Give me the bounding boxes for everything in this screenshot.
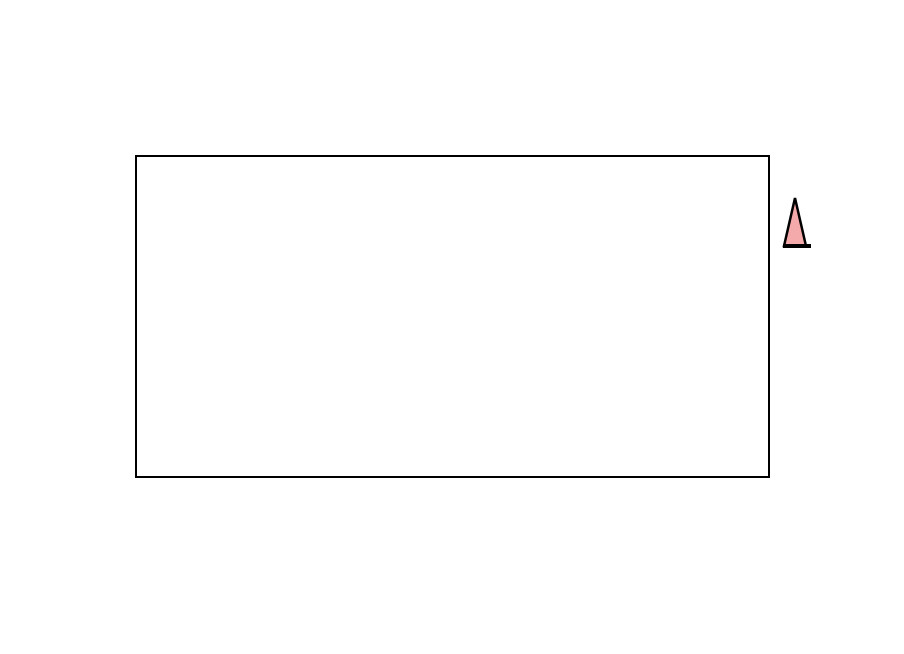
- colorbar-bands[interactable]: [783, 244, 811, 248]
- cloud-density-area-plot: [137, 157, 768, 476]
- colorbar-arrow-icon: [782, 196, 808, 248]
- plot-area: [135, 155, 770, 478]
